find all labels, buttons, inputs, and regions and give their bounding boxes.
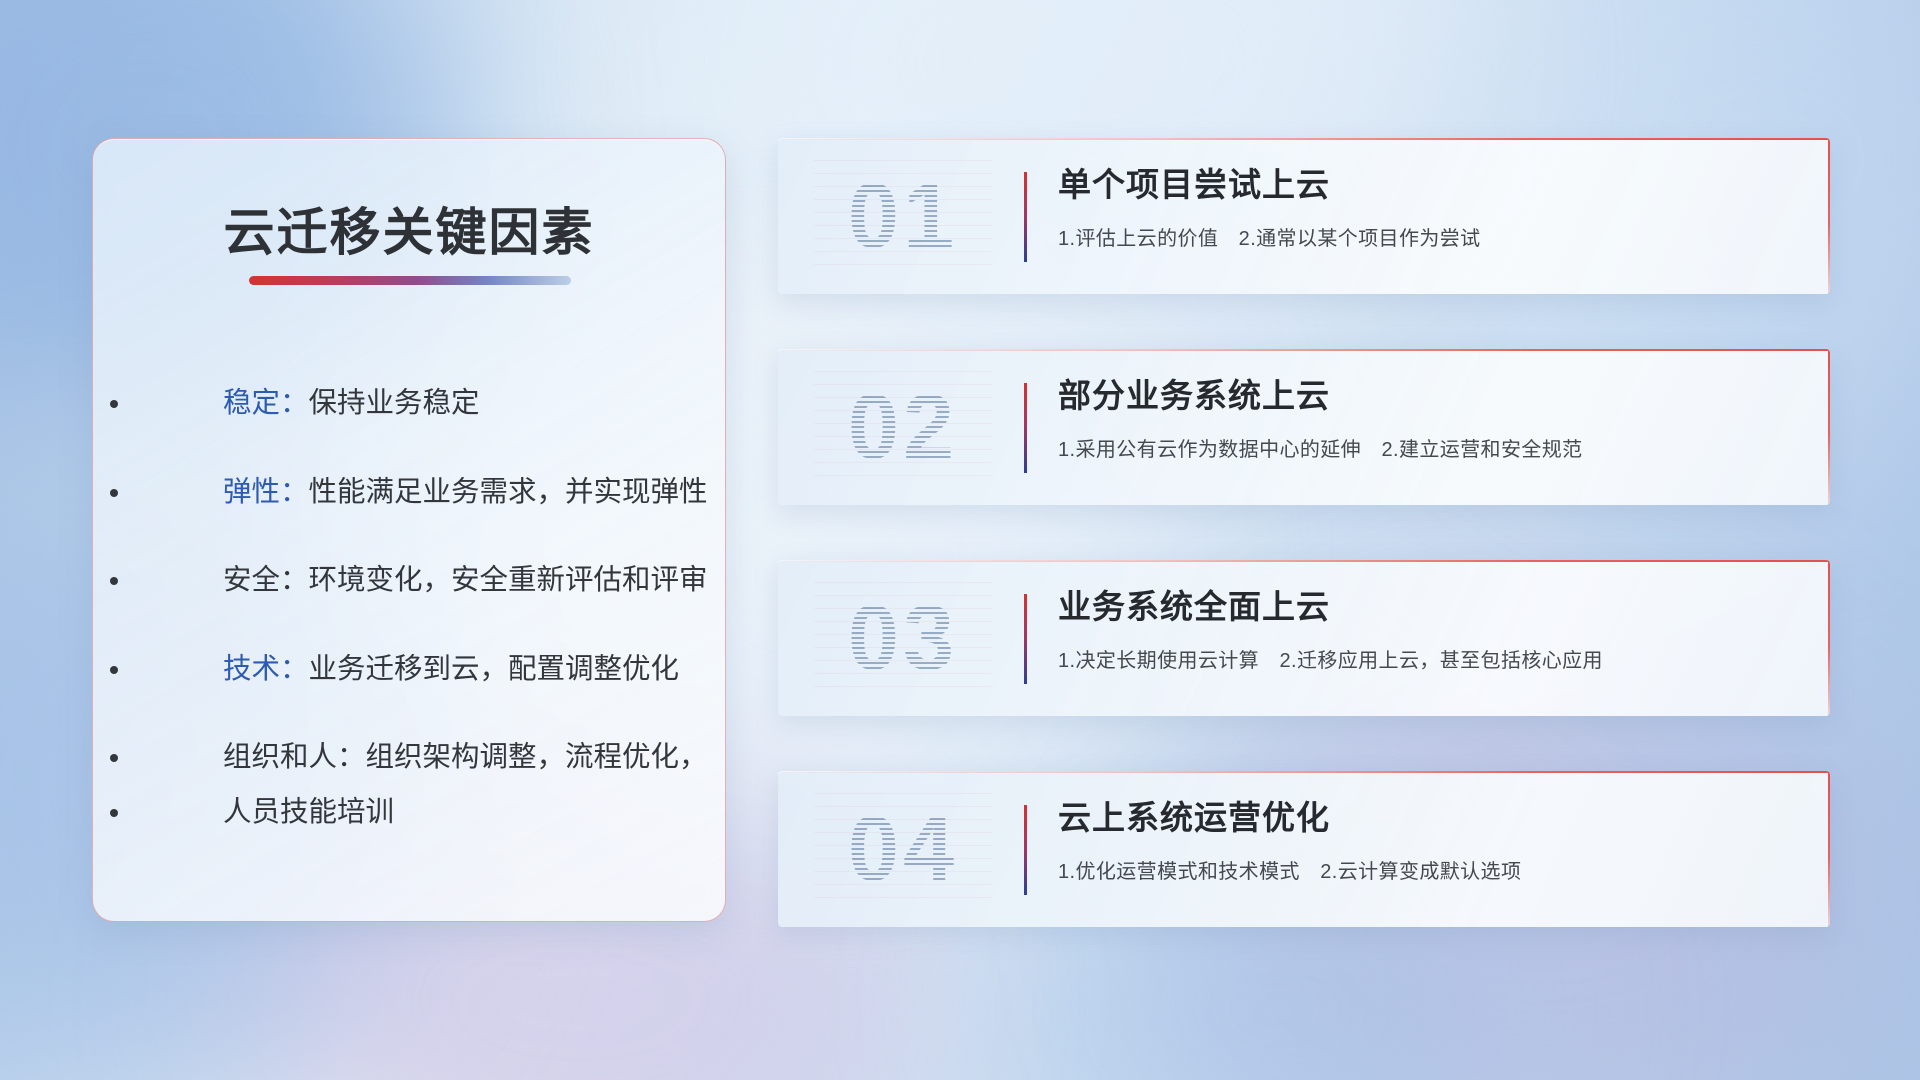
stage-number: 04 (814, 793, 992, 905)
page-title: 云迁移关键因素 (93, 191, 725, 265)
list-item-label: 弹性： (223, 476, 309, 508)
card-title: 单个项目尝试上云 (1058, 164, 1790, 205)
card-top-accent (778, 771, 1830, 773)
card-divider-bar (1024, 805, 1027, 895)
list-item-label: 稳定： (223, 387, 309, 419)
card-title: 部分业务系统上云 (1058, 375, 1790, 416)
card-text-block: 部分业务系统上云 1.采用公有云作为数据中心的延伸 2.建立运营和安全规范 (1058, 375, 1790, 462)
card-top-accent (778, 560, 1830, 562)
card-text-block: 单个项目尝试上云 1.评估上云的价值 2.通常以某个项目作为尝试 (1058, 164, 1790, 251)
list-item-label: 组织和人： (223, 741, 366, 773)
stage-card-list: 01 单个项目尝试上云 1.评估上云的价值 2.通常以某个项目作为尝试 02 部… (778, 138, 1830, 982)
stage-number: 02 (814, 371, 992, 483)
stage-card[interactable]: 01 单个项目尝试上云 1.评估上云的价值 2.通常以某个项目作为尝试 (778, 138, 1830, 294)
list-item-value: 业务迁移到云，配置调整优化 (309, 653, 680, 685)
card-subtitle: 1.采用公有云作为数据中心的延伸 2.建立运营和安全规范 (1058, 433, 1790, 462)
list-item-value: 保持业务稳定 (309, 387, 480, 419)
card-divider-bar (1024, 383, 1027, 473)
title-underline (249, 276, 571, 285)
card-text-block: 业务系统全面上云 1.决定长期使用云计算 2.迁移应用上云，甚至包括核心应用 (1058, 586, 1790, 673)
card-right-accent (1828, 560, 1830, 716)
card-subtitle: 1.评估上云的价值 2.通常以某个项目作为尝试 (1058, 222, 1790, 251)
list-item-value: 组织架构调整，流程优化， (366, 741, 708, 773)
list-item-label: 安全： (223, 564, 309, 596)
list-item-value: 人员技能培训 (223, 796, 394, 828)
card-top-accent (778, 349, 1830, 351)
stage-card[interactable]: 02 部分业务系统上云 1.采用公有云作为数据中心的延伸 2.建立运营和安全规范 (778, 349, 1830, 505)
list-item: 稳定：保持业务稳定 (133, 389, 685, 418)
list-item: 弹性：性能满足业务需求，并实现弹性 (133, 478, 685, 507)
stage-card[interactable]: 03 业务系统全面上云 1.决定长期使用云计算 2.迁移应用上云，甚至包括核心应… (778, 560, 1830, 716)
list-item-label: 技术： (223, 653, 309, 685)
card-text-block: 云上系统运营优化 1.优化运营模式和技术模式 2.云计算变成默认选项 (1058, 797, 1790, 884)
card-title: 业务系统全面上云 (1058, 586, 1790, 627)
list-item-value: 环境变化，安全重新评估和评审 (309, 564, 708, 596)
list-item-value: 性能满足业务需求，并实现弹性 (309, 476, 708, 508)
card-top-accent (778, 138, 1830, 140)
card-title: 云上系统运营优化 (1058, 797, 1790, 838)
stage-number: 01 (814, 160, 992, 272)
list-item: 安全：环境变化，安全重新评估和评审 (133, 566, 685, 595)
key-factors-list: 稳定：保持业务稳定 弹性：性能满足业务需求，并实现弹性 安全：环境变化，安全重新… (93, 389, 725, 886)
list-item: 人员技能培训 (133, 798, 685, 827)
slide-stage: 云迁移关键因素 稳定：保持业务稳定 弹性：性能满足业务需求，并实现弹性 安全：环… (0, 0, 1920, 1080)
card-right-accent (1828, 349, 1830, 505)
card-subtitle: 1.优化运营模式和技术模式 2.云计算变成默认选项 (1058, 855, 1790, 884)
key-factors-panel: 云迁移关键因素 稳定：保持业务稳定 弹性：性能满足业务需求，并实现弹性 安全：环… (92, 138, 726, 922)
list-item: 技术：业务迁移到云，配置调整优化 (133, 655, 685, 684)
card-right-accent (1828, 138, 1830, 294)
card-divider-bar (1024, 594, 1027, 684)
card-subtitle: 1.决定长期使用云计算 2.迁移应用上云，甚至包括核心应用 (1058, 644, 1790, 673)
stage-number: 03 (814, 582, 992, 694)
stage-card[interactable]: 04 云上系统运营优化 1.优化运营模式和技术模式 2.云计算变成默认选项 (778, 771, 1830, 927)
card-divider-bar (1024, 172, 1027, 262)
card-right-accent (1828, 771, 1830, 927)
list-item: 组织和人：组织架构调整，流程优化， (133, 743, 685, 772)
